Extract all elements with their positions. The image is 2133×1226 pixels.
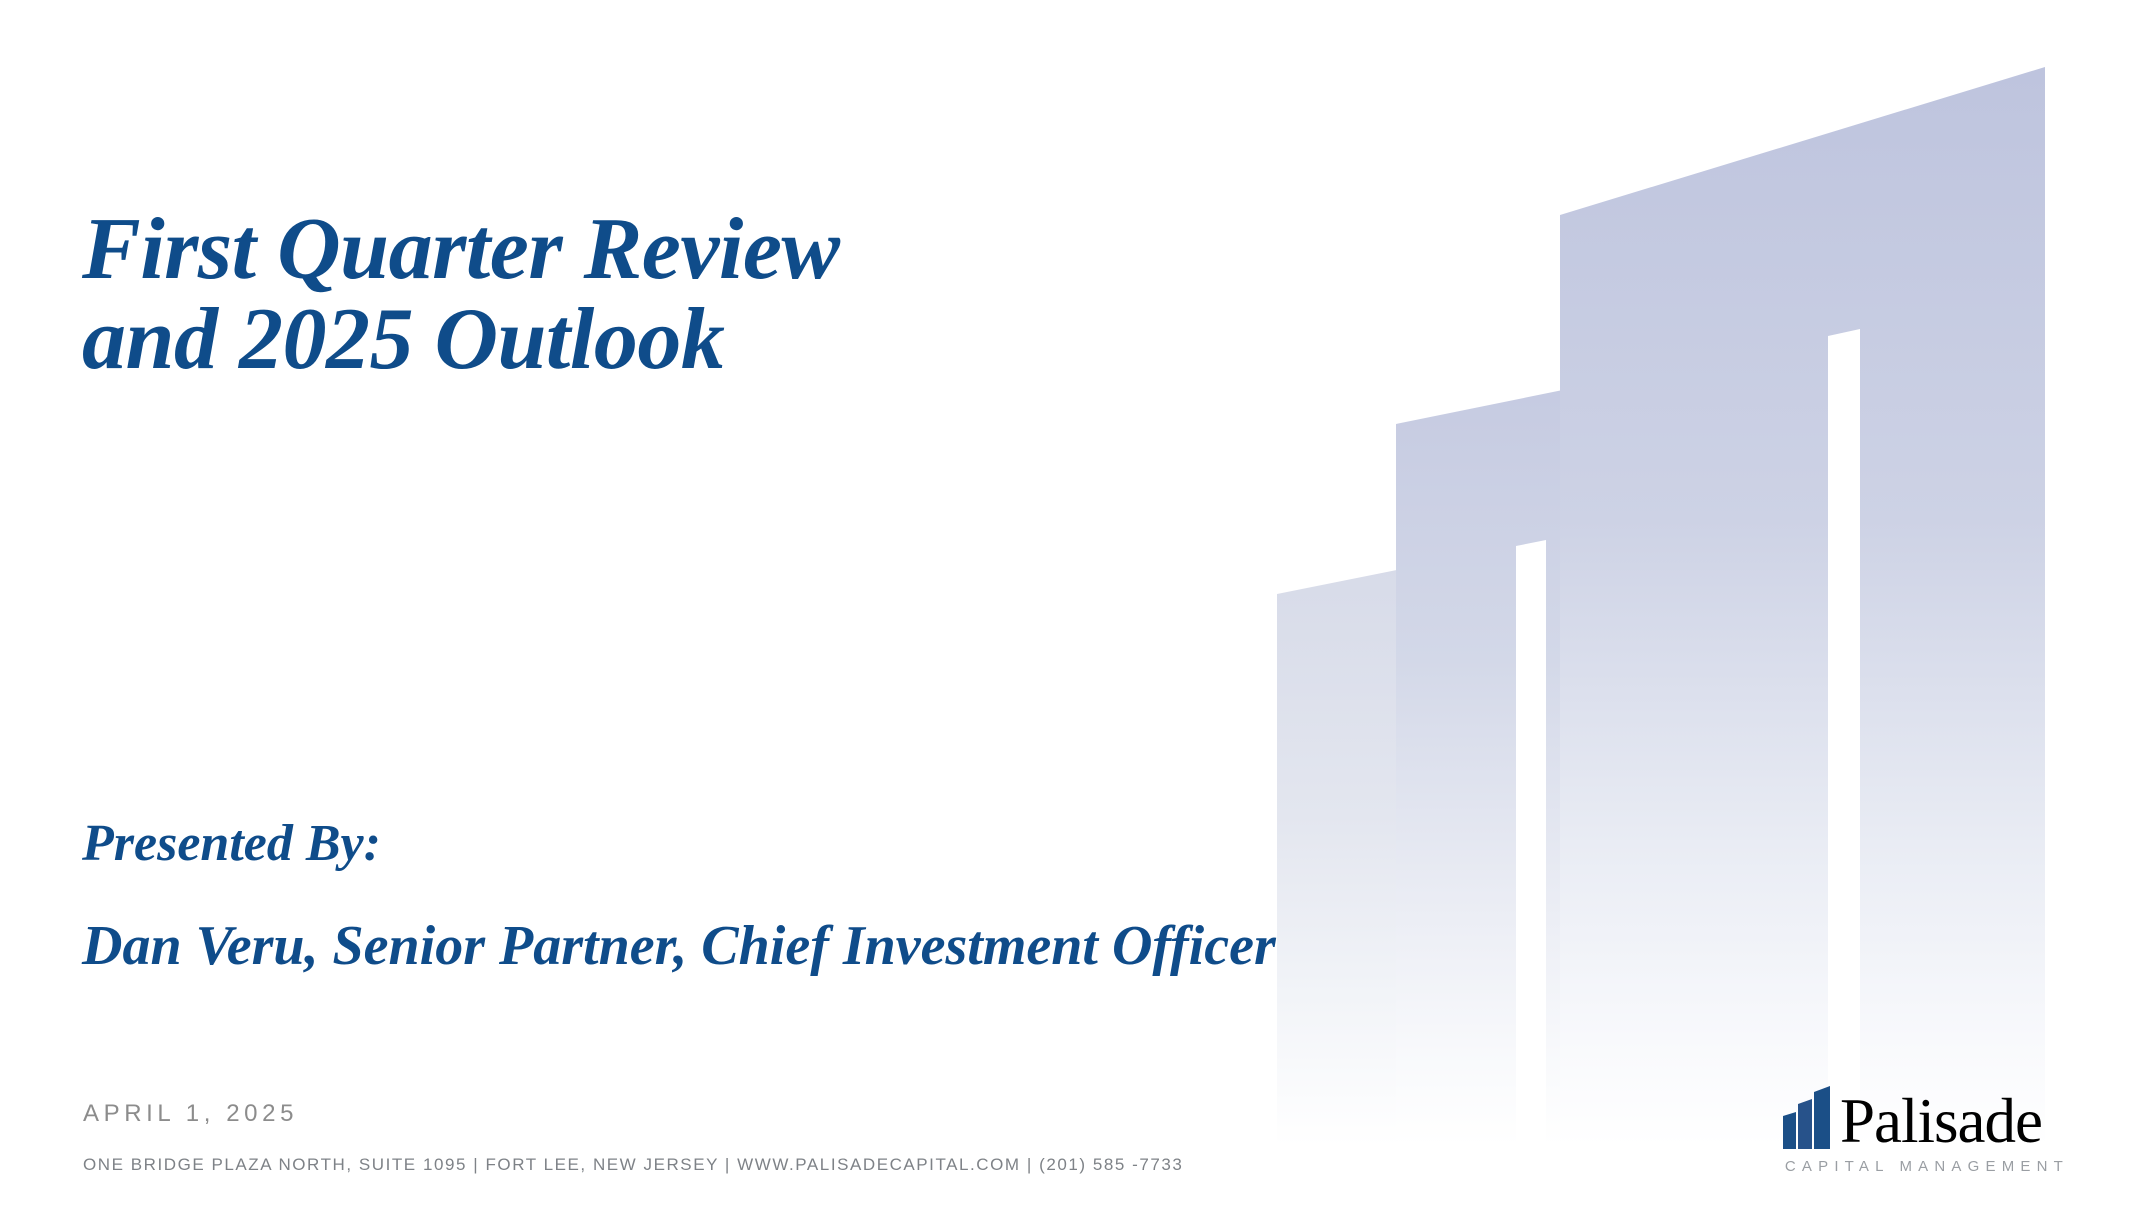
logo-row: Palisade bbox=[1781, 1083, 2071, 1151]
presenter-name: Dan Veru, Senior Partner, Chief Investme… bbox=[82, 916, 1582, 978]
presented-by-label: Presented By: bbox=[82, 815, 1582, 872]
ascending-bars-watermark-icon bbox=[0, 0, 2133, 1226]
presentation-slide: First Quarter Review and 2025 Outlook Pr… bbox=[0, 0, 2133, 1226]
company-logo: Palisade CAPITAL MANAGEMENT bbox=[1781, 1083, 2071, 1178]
footer-contact-info: ONE BRIDGE PLAZA NORTH, SUITE 1095 | FOR… bbox=[83, 1155, 1183, 1175]
title-line-2: and 2025 Outlook bbox=[82, 295, 1202, 385]
title-line-1: First Quarter Review bbox=[82, 205, 1202, 295]
watermark-bar-tall bbox=[1560, 67, 2045, 1146]
slide-title: First Quarter Review and 2025 Outlook bbox=[82, 205, 1202, 385]
slide-date: APRIL 1, 2025 bbox=[83, 1100, 298, 1128]
watermark-bar-medium bbox=[1396, 336, 1828, 1146]
ascending-bars-mark-icon bbox=[1781, 1085, 1833, 1151]
presenter-block: Presented By: Dan Veru, Senior Partner, … bbox=[82, 815, 1582, 978]
watermark-separator-right bbox=[1828, 329, 1860, 1146]
logo-tagline: CAPITAL MANAGEMENT bbox=[1781, 1158, 2071, 1175]
logo-wordmark: Palisade bbox=[1840, 1093, 2042, 1151]
